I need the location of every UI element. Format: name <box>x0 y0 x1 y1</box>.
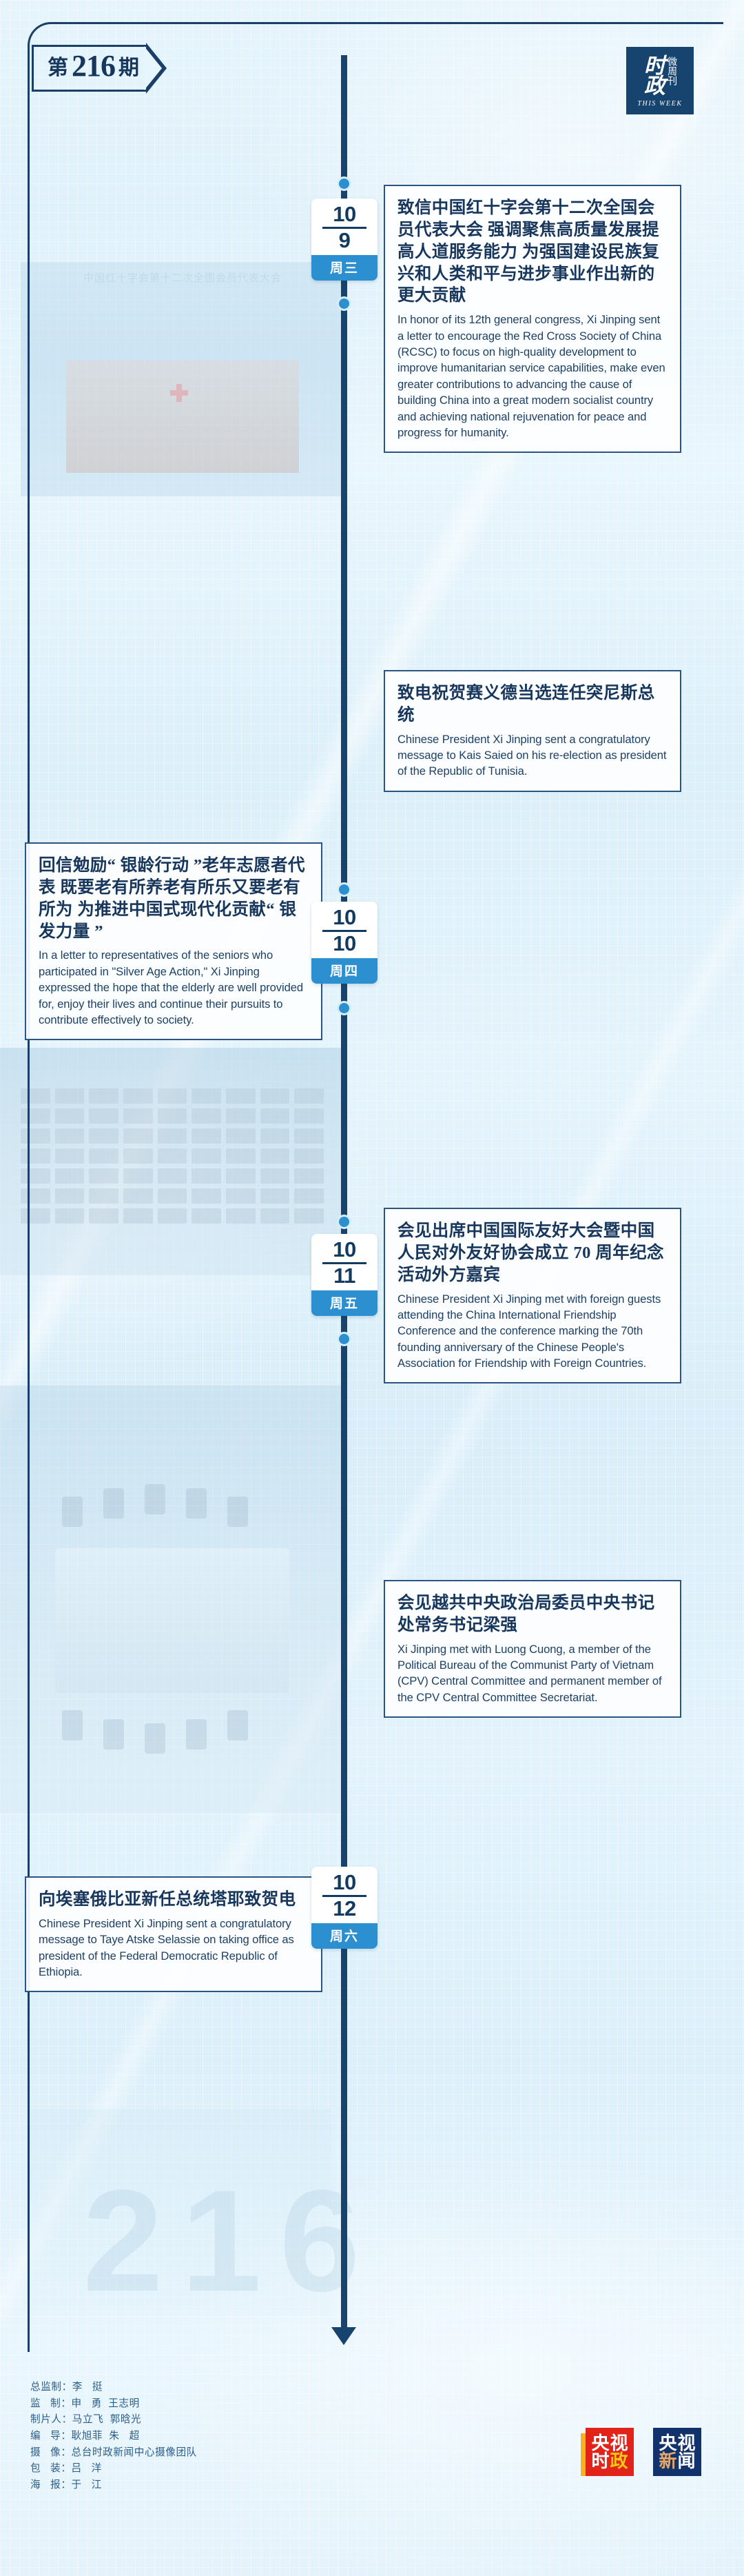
entry-card-tunisia[interactable]: 致电祝贺赛义德当选连任突尼斯总统 Chinese President Xi Ji… <box>384 670 681 792</box>
logo-char-shi: 视 <box>678 2434 696 2452</box>
logo-main-chars: 时 政 <box>644 57 665 97</box>
credit-line: 包 装：吕 洋 <box>30 2461 197 2477</box>
meeting-table <box>55 1548 289 1694</box>
timeline-node <box>337 296 351 311</box>
date-pill-10-9[interactable]: 10 9 周三 <box>311 199 378 281</box>
date-pill-10-10[interactable]: 10 10 周四 <box>311 902 378 984</box>
date-weekday: 周五 <box>311 1290 378 1316</box>
entry-title-cn: 会见出席中国国际友好大会暨中国人民对外友好协会成立 70 周年纪念活动外方嘉宾 <box>397 1220 668 1286</box>
entry-body-en: In honor of its 12th general congress, X… <box>397 312 668 440</box>
date-weekday: 周六 <box>311 1923 378 1949</box>
logo-subtitle-cn: 微周刊 <box>666 57 676 97</box>
logo-char-yang: 央 <box>659 2434 676 2452</box>
date-month: 10 <box>311 1239 378 1261</box>
date-month: 10 <box>311 1872 378 1894</box>
audience-rows <box>21 1088 324 1261</box>
date-weekday: 周四 <box>311 958 378 984</box>
entry-title-cn: 会见越共中央政治局委员中央书记处常务书记梁强 <box>397 1592 668 1636</box>
logo-char-zheng: 政 <box>644 77 665 97</box>
photo-red-cross-congress: 中国红十字会第十二次全国会员代表大会 <box>21 262 344 496</box>
date-month: 10 <box>311 203 378 225</box>
date-top: 10 10 <box>311 902 378 958</box>
cctv-politics-logo[interactable]: 央视 时政 <box>586 2428 634 2476</box>
cctv-news-logo[interactable]: 央视 新闻 <box>653 2428 701 2476</box>
logo-char-xin: 新 <box>659 2452 676 2470</box>
credit-line: 制片人：马立飞 郭晗光 <box>30 2412 197 2428</box>
date-top: 10 12 <box>311 1867 378 1923</box>
issue-arrow-icon <box>146 43 167 94</box>
logo-subtitle-en: THIS WEEK <box>637 100 682 108</box>
timeline-node <box>337 882 351 897</box>
logo-row-bottom: 新闻 <box>659 2452 695 2470</box>
logo-row-bottom: 时政 <box>591 2452 628 2470</box>
entry-body-en: Chinese President Xi Jinping sent a cong… <box>397 731 668 780</box>
photo-audience-hall <box>0 1048 344 1275</box>
photo-caption: 中国红十字会第十二次全国会员代表大会 <box>21 270 344 285</box>
stage-block <box>66 361 299 473</box>
credit-line: 摄 像：总台时政新闻中心摄像团队 <box>30 2445 197 2462</box>
decorative-watermark: 216 <box>83 2158 378 2324</box>
issue-box: 第 216 期 <box>32 45 146 92</box>
entry-card-red-cross[interactable]: 致信中国红十字会第十二次全国会员代表大会 强调聚焦高质量发展提高人道服务能力 为… <box>384 185 681 453</box>
logo-char-zheng: 政 <box>610 2452 628 2470</box>
poster-root: 中国红十字会第十二次全国会员代表大会 216 第 <box>0 0 744 2576</box>
date-weekday: 周三 <box>311 255 378 281</box>
date-top: 10 9 <box>311 199 378 255</box>
date-month: 10 <box>311 906 378 929</box>
logo-characters: 时 政 微周刊 <box>644 57 676 97</box>
entry-card-friendship-conference[interactable]: 会见出席中国国际友好大会暨中国人民对外友好协会成立 70 周年纪念活动外方嘉宾 … <box>384 1208 681 1383</box>
entry-title-cn: 致电祝贺赛义德当选连任突尼斯总统 <box>397 682 668 727</box>
entry-card-silver-age[interactable]: 回信勉励“ 银龄行动 ”老年志愿者代表 既要老有所养老有所乐又要老有所为 为推进… <box>25 842 322 1040</box>
logo-row-top: 央视 <box>659 2434 695 2452</box>
credit-line: 编 导：耿旭菲 朱 超 <box>30 2428 197 2445</box>
credit-line: 海 报：于 江 <box>30 2477 197 2494</box>
date-day: 12 <box>311 1898 378 1920</box>
red-cross-icon <box>170 384 188 402</box>
date-top: 10 11 <box>311 1234 378 1290</box>
entry-card-vietnam[interactable]: 会见越共中央政治局委员中央书记处常务书记梁强 Xi Jinping met wi… <box>384 1580 681 1718</box>
issue-number: 216 <box>70 51 117 81</box>
issue-prefix: 第 <box>48 58 68 79</box>
entry-title-cn: 向埃塞俄比亚新任总统塔耶致贺电 <box>39 1889 309 1911</box>
logo-row-top: 央视 <box>591 2434 628 2452</box>
credits-block: 总监制：李 挺 监 制：申 勇 王志明 制片人：马立飞 郭晗光 编 导：耿旭菲 … <box>30 2380 197 2493</box>
brand-logo: 时 政 微周刊 THIS WEEK <box>626 47 694 114</box>
date-pill-10-12[interactable]: 10 12 周六 <box>311 1867 378 1949</box>
logo-char-wen: 闻 <box>678 2452 696 2470</box>
issue-badge: 第 216 期 <box>32 43 167 94</box>
entry-title-cn: 回信勉励“ 银龄行动 ”老年志愿者代表 既要老有所养老有所乐又要老有所为 为推进… <box>39 855 309 942</box>
issue-suffix: 期 <box>118 58 139 79</box>
logo-char-yang: 央 <box>591 2434 609 2452</box>
timeline-node <box>337 1332 351 1346</box>
entry-card-ethiopia[interactable]: 向埃塞俄比亚新任总统塔耶致贺电 Chinese President Xi Jin… <box>25 1876 322 1992</box>
entry-body-en: Xi Jinping met with Luong Cuong, a membe… <box>397 1641 668 1706</box>
timeline-node <box>337 1001 351 1015</box>
entry-body-en: In a letter to representatives of the se… <box>39 947 309 1028</box>
entry-title-cn: 致信中国红十字会第十二次全国会员代表大会 强调聚焦高质量发展提高人道服务能力 为… <box>397 197 668 307</box>
credit-line: 总监制：李 挺 <box>30 2380 197 2396</box>
logo-char-shi2: 时 <box>591 2452 609 2470</box>
timeline-node <box>337 176 351 191</box>
entry-body-en: Chinese President Xi Jinping sent a cong… <box>39 1916 309 1980</box>
entry-body-en: Chinese President Xi Jinping met with fo… <box>397 1291 668 1372</box>
timeline-spine <box>341 55 347 2330</box>
date-day: 10 <box>311 933 378 955</box>
date-day: 11 <box>311 1265 378 1287</box>
date-pill-10-11[interactable]: 10 11 周五 <box>311 1234 378 1316</box>
credit-line: 监 制：申 勇 王志明 <box>30 2396 197 2413</box>
photo-meeting-room <box>0 1386 344 1813</box>
timeline-arrow-icon <box>331 2327 356 2345</box>
timeline-node <box>337 1215 351 1229</box>
footer-logos: 央视 时政 央视 新闻 <box>586 2428 701 2476</box>
date-day: 9 <box>311 230 378 252</box>
logo-char-shi: 视 <box>610 2434 628 2452</box>
